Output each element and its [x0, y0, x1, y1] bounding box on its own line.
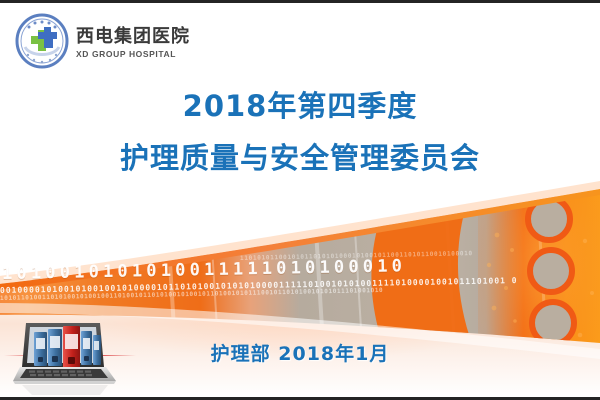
- slide-footer: 护理部 2018年1月: [0, 339, 600, 366]
- hospital-logo: 西电集团医院 XD GROUP HOSPITAL: [14, 13, 190, 71]
- slide-title-block: 2018年第四季度 护理质量与安全管理委员会: [0, 91, 600, 174]
- title-slide: 1101010110010101101010100010100101100110…: [0, 0, 600, 400]
- hospital-name-cn: 西电集团医院: [76, 28, 190, 46]
- title-line-period: 2018年第四季度: [0, 91, 600, 121]
- hospital-name-en: XD GROUP HOSPITAL: [76, 50, 190, 59]
- hospital-emblem-icon: [14, 13, 70, 71]
- hospital-name-block: 西电集团医院 XD GROUP HOSPITAL: [76, 25, 190, 59]
- title-line-subject: 护理质量与安全管理委员会: [0, 143, 600, 173]
